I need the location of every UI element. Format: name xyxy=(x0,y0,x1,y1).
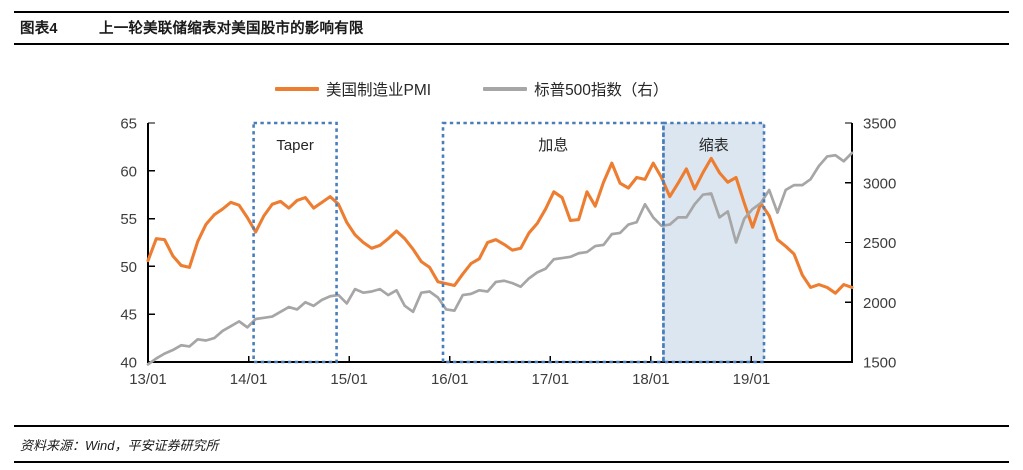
annotation-label-0: Taper xyxy=(276,137,314,154)
source-note: 资料来源：Wind，平安证券研究所 xyxy=(20,435,219,454)
left-axis-tick-label: 50 xyxy=(120,259,137,276)
x-axis-tick-label: 18/01 xyxy=(632,371,670,388)
right-axis-tick-label: 3000 xyxy=(863,175,896,192)
left-axis-tick-label: 40 xyxy=(120,355,137,372)
annotation-box-0 xyxy=(254,123,337,362)
chart-svg: 4045505560651500200025003000350013/0114/… xyxy=(0,0,1023,470)
annotation-box-1 xyxy=(443,123,663,362)
x-axis-tick-label: 13/01 xyxy=(129,371,167,388)
x-axis-tick-label: 17/01 xyxy=(532,371,570,388)
x-axis-tick-label: 14/01 xyxy=(230,371,268,388)
figure-container: 图表4 上一轮美联储缩表对美国股市的影响有限 美国制造业PMI 标普500指数（… xyxy=(0,0,1023,470)
right-axis-tick-label: 2500 xyxy=(863,235,896,252)
left-axis-tick-label: 60 xyxy=(120,163,137,180)
left-axis-tick-label: 45 xyxy=(120,307,137,324)
left-axis-tick-label: 65 xyxy=(120,116,137,133)
right-axis-tick-label: 1500 xyxy=(863,355,896,372)
source-rule-bottom xyxy=(14,461,1009,463)
left-axis-tick-label: 55 xyxy=(120,211,137,228)
annotation-label-2: 缩表 xyxy=(699,137,729,154)
annotation-shade-2 xyxy=(663,123,764,362)
source-rule-top xyxy=(14,425,1009,427)
right-axis-tick-label: 3500 xyxy=(863,116,896,133)
x-axis-tick-label: 15/01 xyxy=(330,371,368,388)
x-axis-tick-label: 19/01 xyxy=(733,371,771,388)
x-axis-tick-label: 16/01 xyxy=(431,371,469,388)
annotation-label-1: 加息 xyxy=(538,137,568,154)
plot-area: 4045505560651500200025003000350013/0114/… xyxy=(0,0,1023,470)
right-axis-tick-label: 2000 xyxy=(863,295,896,312)
